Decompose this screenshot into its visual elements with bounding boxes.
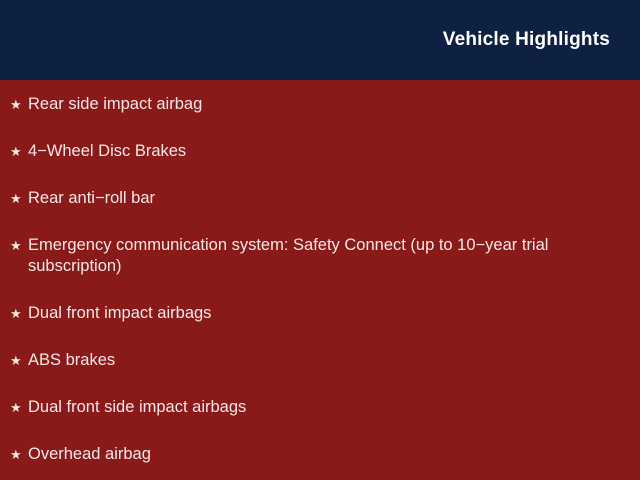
page-title: Vehicle Highlights bbox=[443, 30, 610, 51]
star-bullet-icon: ★ bbox=[10, 188, 28, 209]
list-item: ★ Rear anti−roll bar bbox=[10, 188, 612, 209]
list-item: ★ Overhead airbag bbox=[10, 444, 612, 465]
list-item-label: 4−Wheel Disc Brakes bbox=[28, 141, 598, 162]
star-bullet-icon: ★ bbox=[10, 350, 28, 371]
list-item-label: Dual front impact airbags bbox=[28, 303, 598, 324]
list-item: ★ Emergency communication system: Safety… bbox=[10, 235, 612, 277]
list-item-label: Rear anti−roll bar bbox=[28, 188, 598, 209]
list-item-label: ABS brakes bbox=[28, 350, 598, 371]
list-item-label: Overhead airbag bbox=[28, 444, 598, 465]
vehicle-highlights-list: ★ Rear side impact airbag ★ 4−Wheel Disc… bbox=[10, 94, 612, 465]
vehicle-highlights-slide: Vehicle Highlights ★ Rear side impact ai… bbox=[0, 0, 640, 480]
star-bullet-icon: ★ bbox=[10, 303, 28, 324]
list-item: ★ Dual front side impact airbags bbox=[10, 397, 612, 418]
star-bullet-icon: ★ bbox=[10, 235, 28, 256]
star-bullet-icon: ★ bbox=[10, 397, 28, 418]
header-bar: Vehicle Highlights bbox=[0, 0, 640, 80]
star-bullet-icon: ★ bbox=[10, 141, 28, 162]
list-item: ★ Dual front impact airbags bbox=[10, 303, 612, 324]
list-item-label: Emergency communication system: Safety C… bbox=[28, 235, 598, 277]
list-item: ★ Rear side impact airbag bbox=[10, 94, 612, 115]
list-item: ★ 4−Wheel Disc Brakes bbox=[10, 141, 612, 162]
highlights-content: ★ Rear side impact airbag ★ 4−Wheel Disc… bbox=[0, 80, 640, 480]
star-bullet-icon: ★ bbox=[10, 444, 28, 465]
star-bullet-icon: ★ bbox=[10, 94, 28, 115]
list-item: ★ ABS brakes bbox=[10, 350, 612, 371]
list-item-label: Rear side impact airbag bbox=[28, 94, 598, 115]
list-item-label: Dual front side impact airbags bbox=[28, 397, 598, 418]
